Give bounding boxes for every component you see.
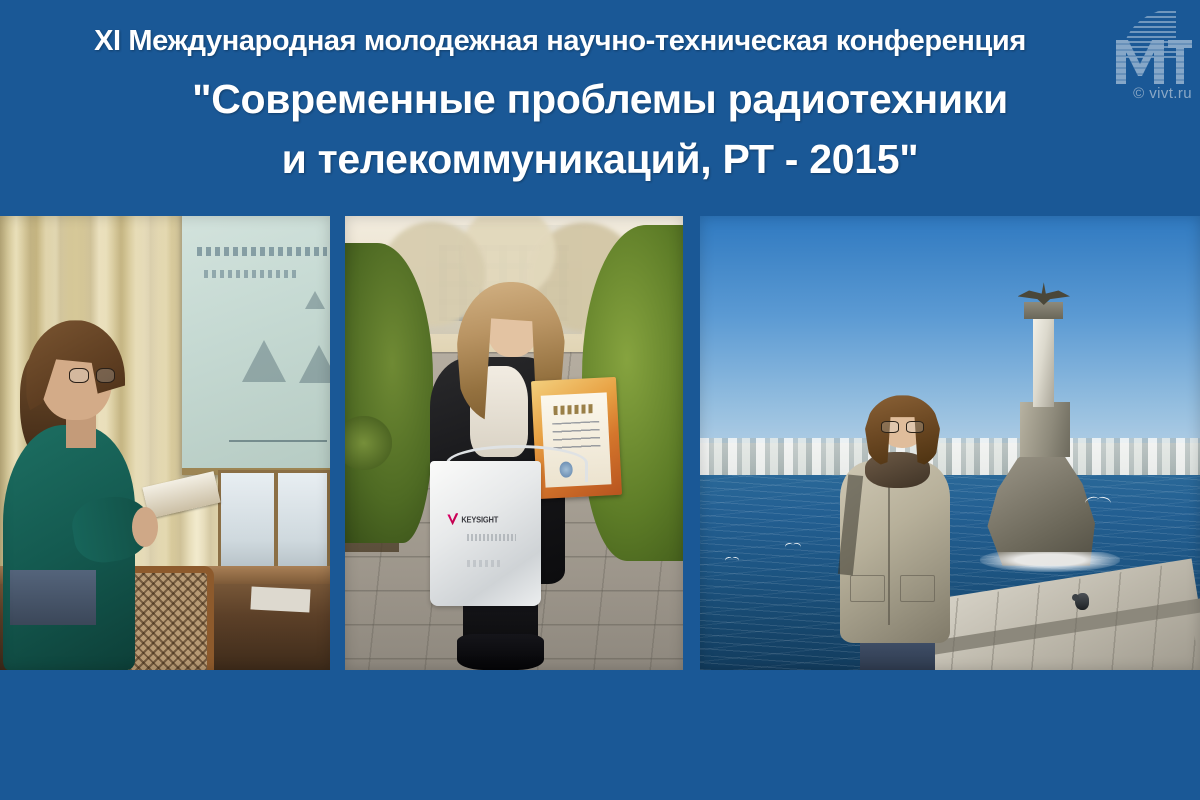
sea-foam [980,552,1120,572]
keysight-mark-icon [447,513,458,525]
jacket-pocket-right [900,575,935,602]
photo-award-winner: KEYSIGHT [345,216,683,670]
student-boots [457,634,545,670]
jacket-zipper [888,475,890,625]
visitor-glasses-icon [881,421,924,433]
banner-header: XI Международная молодежная научно-техни… [0,0,1200,216]
slide-diagram-triangle-2 [299,345,330,383]
tote-bag-tagline [467,534,516,541]
slide-diagram-axis [229,440,327,442]
conference-title-line-1: "Современные проблемы радиотехники [0,72,1200,126]
conference-banner: XI Международная молодежная научно-техни… [0,0,1200,800]
tote-bag-subtext [467,560,500,567]
photo-sevastopol-waterfront [700,216,1200,670]
slide-diagram-triangle-1 [242,340,286,382]
banner-footer [0,670,1200,800]
projector-screen [182,216,331,475]
monument-pedestal [1020,402,1070,456]
grass-patch [345,416,392,470]
photo-presentation [0,216,330,670]
seagull-icon [1085,497,1111,505]
copyright-watermark: © vivt.ru [1133,85,1192,102]
vivt-logo-icon [1106,6,1194,88]
monument-column [1033,316,1054,407]
slide-diagram-triangle-3 [305,291,325,309]
slide-subheading-text [204,270,299,278]
conference-title-line-2: и телекоммуникаций, РТ - 2015" [0,132,1200,186]
seagull-icon [725,557,739,562]
conference-subtitle: XI Международная молодежная научно-техни… [0,22,1120,60]
city-buildings [700,438,1200,474]
jacket-pocket-left [850,575,885,602]
sponsor-tote-bag: KEYSIGHT [430,461,542,606]
diploma-title-text [554,405,595,415]
photo-strip: KEYSIGHT [0,216,1200,670]
presenter-jeans [10,570,96,624]
keysight-logo: KEYSIGHT [447,509,521,529]
presenter-glasses-icon [69,368,115,383]
seagull-icon [785,543,801,549]
slide-heading-text [197,247,327,256]
papers-on-table-2 [250,587,310,613]
keysight-wordmark: KEYSIGHT [461,514,498,524]
pigeon-icon [1075,593,1089,610]
